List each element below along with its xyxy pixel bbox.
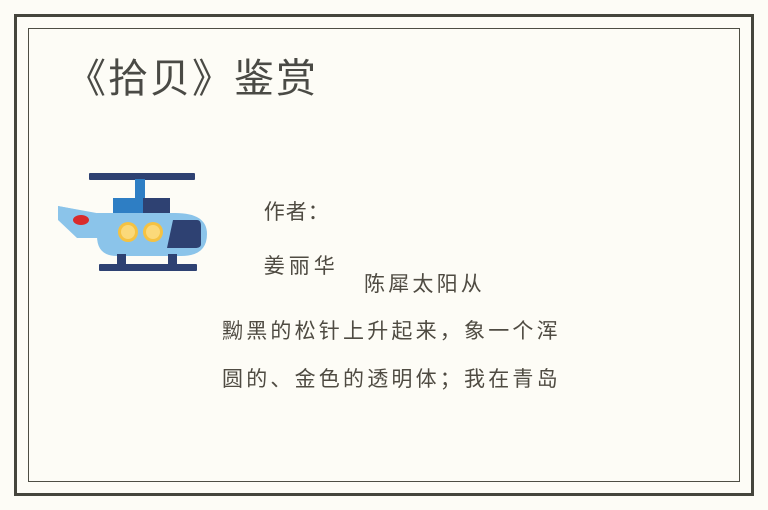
rotor-mast (135, 179, 145, 200)
page-title: 《拾贝》鉴赏 (66, 54, 318, 104)
landing-skid (99, 264, 197, 271)
author-row: 作者： 姜丽华 (233, 172, 339, 304)
author-label: 作者： (264, 196, 330, 226)
rotor-blade (89, 173, 195, 180)
body-text-line-3: 圆的、金色的透明体；我在青岛 (222, 363, 561, 393)
slide-page: 《拾贝》鉴赏 (0, 0, 768, 510)
tail-light (73, 215, 89, 225)
author-name: 姜丽华 (264, 250, 339, 280)
body-text-line-1: 陈犀太阳从 (364, 268, 485, 298)
porthole-window-2-inner (146, 225, 160, 239)
helicopter-icon (55, 160, 220, 275)
porthole-window-1-inner (121, 225, 135, 239)
helicopter-illustration (55, 160, 220, 275)
body-text-line-2: 黝黑的松针上升起来，象一个浑 (222, 315, 561, 345)
cockpit-windshield (167, 220, 201, 248)
engine-housing-right (143, 198, 170, 215)
engine-housing-left (113, 198, 143, 215)
